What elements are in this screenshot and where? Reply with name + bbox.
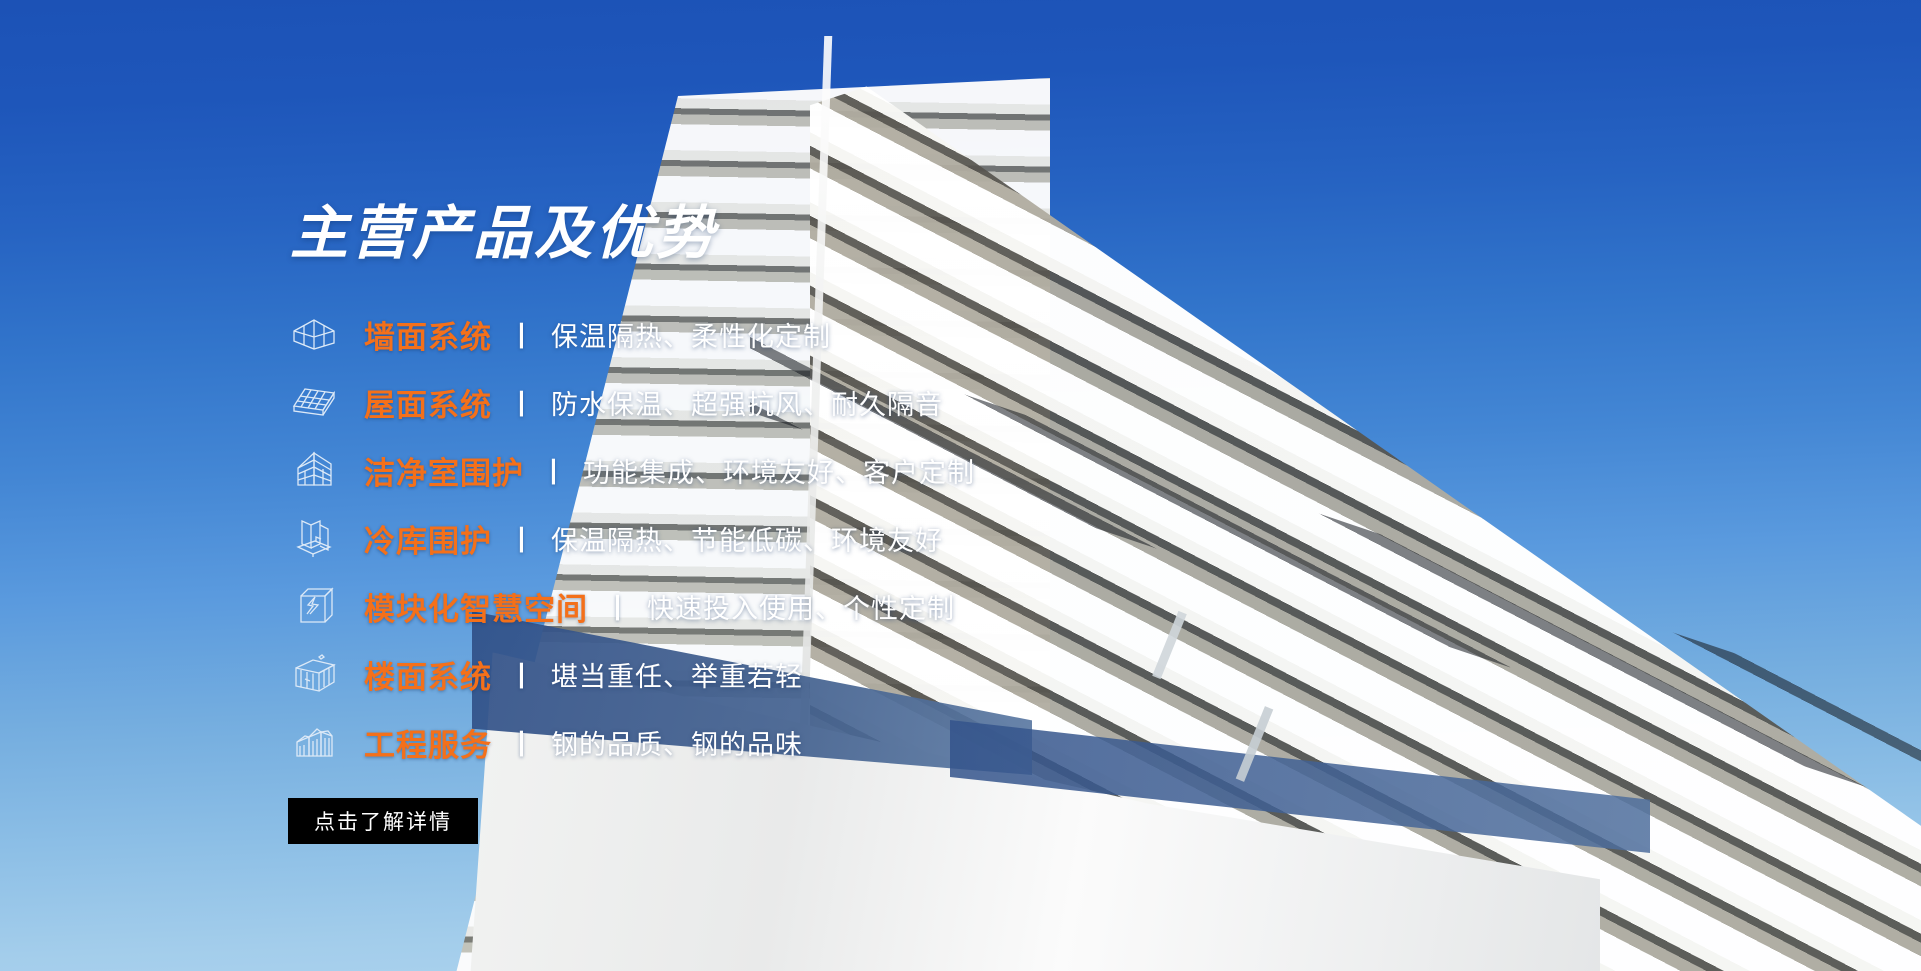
product-advantage-banner: 主营产品及优势 墙面系统 丨 保温隔热、柔性化定制 [0,0,1921,971]
product-description: 钢的品质、钢的品味 [551,723,803,762]
product-description: 防水保温、超强抗风、耐久隔音 [551,383,943,422]
product-description: 功能集成、环境友好、客户定制 [583,451,975,490]
product-category: 洁净室围护 [364,448,524,493]
separator: 丨 [540,451,567,490]
product-list: 墙面系统 丨 保温隔热、柔性化定制 [288,300,1108,776]
separator: 丨 [508,723,535,762]
wall-system-icon [288,312,340,356]
building-window-lower [1236,706,1274,782]
learn-more-button[interactable]: 点击了解详情 [288,798,478,844]
product-category: 工程服务 [364,720,492,765]
product-description: 保温隔热、柔性化定制 [551,315,831,354]
list-item[interactable]: 洁净室围护 丨 功能集成、环境友好、客户定制 [288,436,1108,504]
product-category: 屋面系统 [364,380,492,425]
floor-system-icon [288,652,340,696]
page-title: 主营产品及优势 [290,205,717,263]
separator: 丨 [508,655,535,694]
product-category: 楼面系统 [364,652,492,697]
banner-content: 主营产品及优势 墙面系统 丨 保温隔热、柔性化定制 [0,0,1100,971]
list-item[interactable]: 模块化智慧空间 丨 快速投入使用、个性定制 [288,572,1108,640]
cleanroom-enclosure-icon [288,448,340,492]
engineering-service-icon [288,720,340,764]
product-description: 保温隔热、节能低碳、环境友好 [551,519,943,558]
product-category: 模块化智慧空间 [364,584,588,629]
list-item[interactable]: 工程服务 丨 钢的品质、钢的品味 [288,708,1108,776]
roof-system-icon [288,380,340,424]
list-item[interactable]: 墙面系统 丨 保温隔热、柔性化定制 [288,300,1108,368]
product-category: 冷库围护 [364,516,492,561]
separator: 丨 [508,383,535,422]
cold-storage-enclosure-icon [288,516,340,560]
product-category: 墙面系统 [364,312,492,357]
list-item[interactable]: 冷库围护 丨 保温隔热、节能低碳、环境友好 [288,504,1108,572]
list-item[interactable]: 楼面系统 丨 堪当重任、举重若轻 [288,640,1108,708]
building-window-upper [1152,611,1187,679]
modular-smart-space-icon [288,584,340,628]
product-description: 堪当重任、举重若轻 [551,655,803,694]
separator: 丨 [508,519,535,558]
separator: 丨 [604,587,631,626]
list-item[interactable]: 屋面系统 丨 防水保温、超强抗风、耐久隔音 [288,368,1108,436]
product-description: 快速投入使用、个性定制 [647,587,955,626]
separator: 丨 [508,315,535,354]
